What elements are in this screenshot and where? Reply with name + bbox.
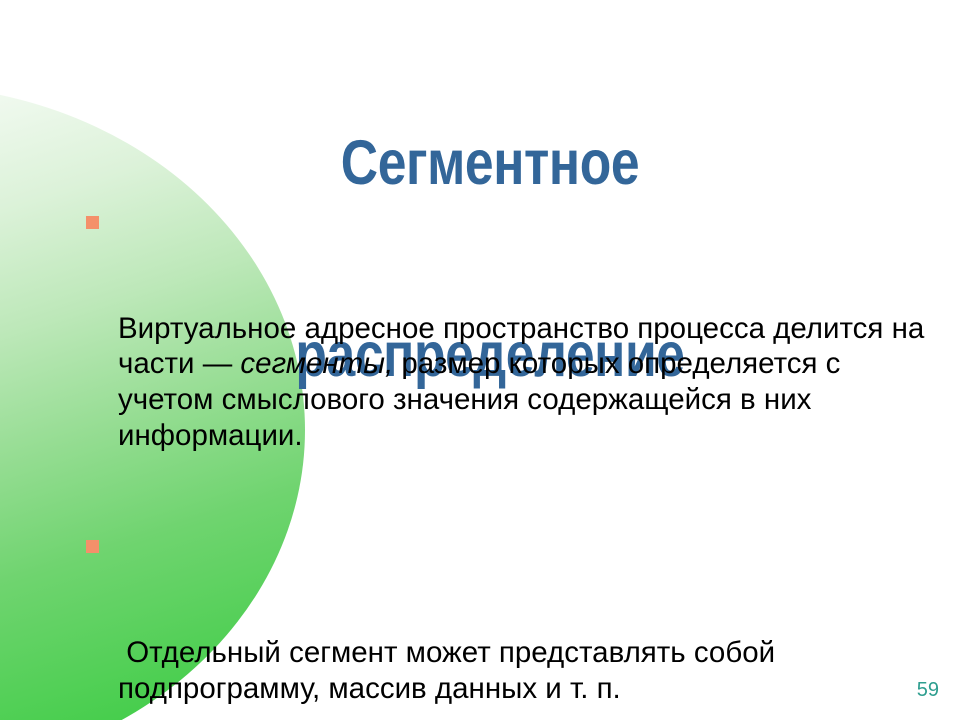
slide-title-line-1: Сегментное <box>203 131 777 195</box>
list-item: Отдельный сегмент может представлять соб… <box>80 528 940 720</box>
list-item-text: Отдельный сегмент может представлять соб… <box>118 635 940 706</box>
square-bullet-icon <box>86 216 99 229</box>
bullet-list: Виртуальное адресное пространство процес… <box>80 204 940 720</box>
list-item: Виртуальное адресное пространство процес… <box>80 204 940 524</box>
slide-canvas: Сегментное распределение Виртуальное адр… <box>0 0 960 720</box>
square-bullet-icon <box>86 540 99 553</box>
page-number: 59 <box>917 680 939 700</box>
list-item-text-italic: сегменты, <box>240 347 393 380</box>
list-item-text: Виртуальное адресное пространство процес… <box>118 311 940 453</box>
